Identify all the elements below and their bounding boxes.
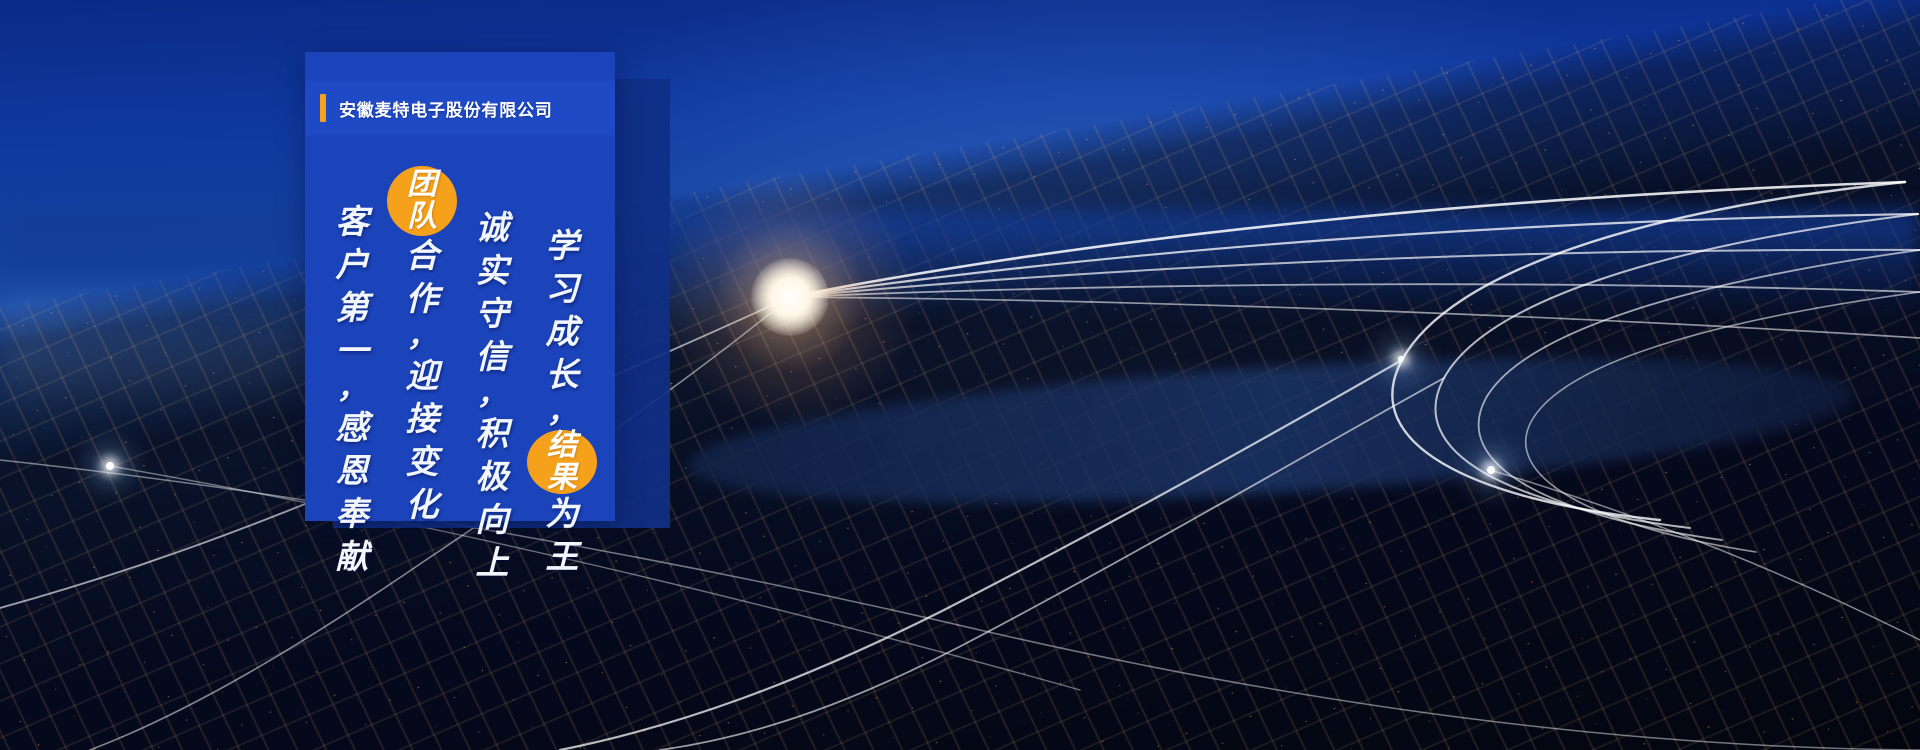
slogan-char: 长 bbox=[546, 353, 579, 396]
slogan-char: 献 bbox=[336, 535, 369, 578]
accent-bar-icon bbox=[320, 94, 326, 122]
slogan-char: 积 bbox=[476, 412, 509, 455]
slogan-char: 奉 bbox=[336, 492, 369, 535]
slogan-char: 化 bbox=[406, 483, 439, 526]
slogan-char: 第 bbox=[336, 286, 369, 329]
slogan-char: 诚 bbox=[476, 206, 509, 249]
slogan-char: 实 bbox=[476, 249, 509, 292]
slogan-char: 客 bbox=[336, 200, 369, 243]
slogan-column-learning-growth: 学 习 成 长 ， 结 果 为 王 bbox=[527, 148, 597, 578]
slogan-char: 迎 bbox=[406, 354, 439, 397]
slogan-char: 习 bbox=[546, 267, 579, 310]
company-slogan-panel: 安徽麦特电子股份有限公司 学 习 成 长 ， 结 果 为 王 诚 实 bbox=[305, 52, 615, 521]
slogan-char: 果 bbox=[547, 462, 577, 494]
slogan-columns: 学 习 成 长 ， 结 果 为 王 诚 实 守 信 ， 积 极 bbox=[305, 148, 615, 578]
network-node bbox=[1398, 356, 1404, 362]
slogan-column-honesty-integrity: 诚 实 守 信 ， 积 极 向 上 bbox=[457, 148, 527, 578]
slogan-char: 王 bbox=[546, 535, 579, 578]
slogan-char: 户 bbox=[336, 243, 369, 286]
slogan-char: 向 bbox=[476, 498, 509, 541]
slogan-comma: ， bbox=[547, 396, 577, 430]
slogan-char: 为 bbox=[546, 492, 579, 535]
slogan-char: 感 bbox=[336, 406, 369, 449]
slogan-column-customer-first: 客 户 第 一 ， 感 恩 奉 献 bbox=[317, 148, 387, 578]
network-node bbox=[1487, 466, 1495, 474]
slogan-char: 变 bbox=[406, 440, 439, 483]
slogan-comma: ， bbox=[407, 320, 437, 354]
slogan-char: 合 bbox=[406, 234, 439, 277]
slogan-char: 信 bbox=[476, 335, 509, 378]
slogan-char: 结 bbox=[547, 430, 577, 462]
slogan-char: 上 bbox=[476, 541, 509, 584]
slogan-comma: ， bbox=[337, 372, 367, 406]
slogan-comma: ， bbox=[477, 378, 507, 412]
slogan-char: 队 bbox=[407, 201, 437, 233]
slogan-badge-team: 团 队 bbox=[387, 166, 457, 236]
slogan-char: 守 bbox=[476, 292, 509, 335]
network-arcs-overlay bbox=[0, 0, 1920, 750]
banner-stage: 安徽麦特电子股份有限公司 学 习 成 长 ， 结 果 为 王 诚 实 bbox=[0, 0, 1920, 750]
slogan-char: 团 bbox=[407, 169, 437, 201]
slogan-char: 一 bbox=[336, 329, 369, 372]
slogan-badge-result: 结 果 bbox=[527, 430, 597, 494]
light-burst bbox=[785, 292, 795, 302]
slogan-column-team-cooperation: 团 队 合 作 ， 迎 接 变 化 bbox=[387, 148, 457, 578]
slogan-char: 成 bbox=[546, 310, 579, 353]
network-arcs-svg bbox=[0, 0, 1920, 750]
slogan-char: 恩 bbox=[336, 449, 369, 492]
slogan-char: 作 bbox=[406, 277, 439, 320]
panel-header: 安徽麦特电子股份有限公司 bbox=[305, 81, 615, 135]
slogan-char: 接 bbox=[406, 397, 439, 440]
company-name-title: 安徽麦特电子股份有限公司 bbox=[339, 96, 553, 121]
network-node bbox=[106, 462, 114, 470]
slogan-char: 学 bbox=[546, 224, 579, 267]
slogan-char: 极 bbox=[476, 455, 509, 498]
